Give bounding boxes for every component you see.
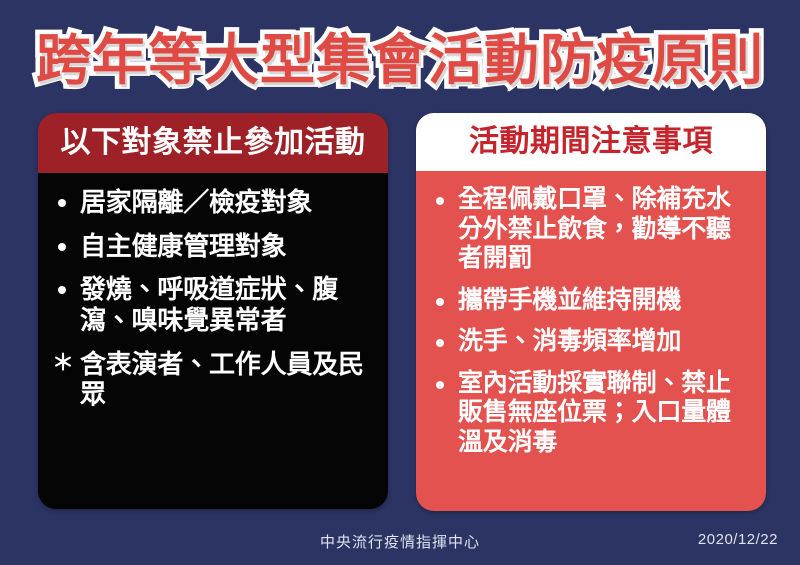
panel-right-body: 全程佩戴口罩、除補充水分外禁止飲食，勸導不聽者開罰 攜帶手機並維持開機 洗手、消… (416, 171, 766, 511)
asterisk-icon (56, 349, 74, 378)
list-item-note: 含表演者、工作人員及民眾 (54, 349, 374, 410)
list-item-text: 全程佩戴口罩、除補充水分外禁止飲食，勸導不聽者開罰 (458, 185, 731, 272)
panel-event-precautions: 活動期間注意事項 全程佩戴口罩、除補充水分外禁止飲食，勸導不聽者開罰 攜帶手機並… (416, 113, 766, 511)
dot-bullet-icon (434, 327, 444, 347)
list-item: 發燒、呼吸道症狀、腹瀉、嗅味覺異常者 (54, 274, 374, 335)
list-item-text: 洗手、消毒頻率增加 (458, 327, 681, 355)
dot-bullet-icon (56, 274, 66, 294)
list-item: 居家隔離／檢疫對象 (54, 187, 374, 218)
panel-left-body: 居家隔離／檢疫對象 自主健康管理對象 發燒、呼吸道症狀、腹瀉、嗅味覺異常者 含表… (38, 173, 388, 509)
dot-bullet-icon (434, 369, 444, 389)
list-item-text: 自主健康管理對象 (80, 231, 286, 261)
list-item: 室內活動採實聯制、禁止販售無座位票；入口量體溫及消毒 (432, 369, 752, 458)
dot-bullet-icon (56, 187, 66, 207)
list-item-text: 含表演者、工作人員及民眾 (80, 349, 364, 410)
panel-left-header: 以下對象禁止參加活動 (38, 113, 388, 173)
dot-bullet-icon (56, 231, 66, 251)
footer: 中央流行疫情指揮中心 2020/12/22 (0, 523, 800, 565)
list-item-text: 攜帶手機並維持開機 (458, 286, 681, 314)
list-item-text: 室內活動採實聯制、禁止販售無座位票；入口量體溫及消毒 (458, 369, 731, 456)
list-item-text: 發燒、呼吸道症狀、腹瀉、嗅味覺異常者 (80, 274, 338, 335)
footer-date: 2020/12/22 (698, 531, 778, 548)
list-item: 攜帶手機並維持開機 (432, 286, 752, 316)
panels-container: 以下對象禁止參加活動 居家隔離／檢疫對象 自主健康管理對象 發燒、呼吸道症狀、腹… (0, 113, 800, 513)
dot-bullet-icon (434, 185, 444, 205)
precautions-list: 全程佩戴口罩、除補充水分外禁止飲食，勸導不聽者開罰 攜帶手機並維持開機 洗手、消… (432, 185, 752, 457)
dot-bullet-icon (434, 286, 444, 306)
list-item: 全程佩戴口罩、除補充水分外禁止飲食，勸導不聽者開罰 (432, 185, 752, 274)
list-item: 自主健康管理對象 (54, 231, 374, 262)
prohibited-list: 居家隔離／檢疫對象 自主健康管理對象 發燒、呼吸道症狀、腹瀉、嗅味覺異常者 含表… (54, 187, 374, 410)
list-item: 洗手、消毒頻率增加 (432, 327, 752, 357)
poster-title-banner: 跨年等大型集會活動防疫原則 (0, 22, 800, 98)
footer-organization: 中央流行疫情指揮中心 (0, 531, 800, 552)
panel-prohibited-participants: 以下對象禁止參加活動 居家隔離／檢疫對象 自主健康管理對象 發燒、呼吸道症狀、腹… (38, 113, 388, 509)
list-item-text: 居家隔離／檢疫對象 (80, 187, 312, 217)
panel-right-header: 活動期間注意事項 (416, 113, 766, 171)
page-title: 跨年等大型集會活動防疫原則 (36, 33, 764, 88)
